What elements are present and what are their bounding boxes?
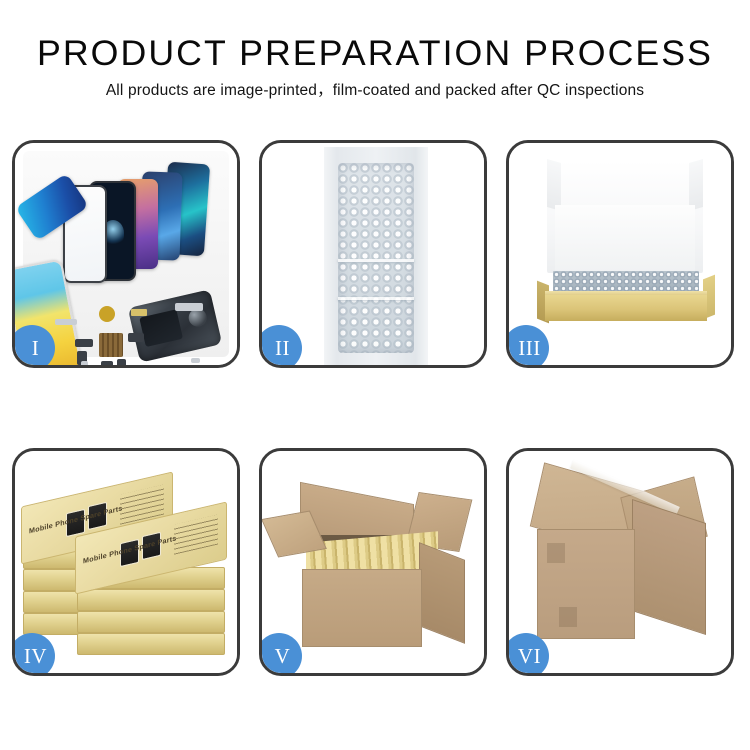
process-step-panel-3: III [506,140,734,368]
kraft-box-layer [77,611,225,633]
process-steps-grid: I II [12,140,738,676]
page-header: PRODUCT PREPARATION PROCESS All products… [0,34,750,101]
spare-part-screw [191,358,200,363]
step-4-illustration: Mobile Phone Spare Parts Mobile Phone Sp… [15,451,237,673]
bubble-wrap-seam-upper [338,259,414,262]
process-step-panel-6: VI [506,448,734,676]
carton-handle-tab-lower [559,607,577,627]
spare-part-camera [101,361,113,365]
process-step-panel-5: V [259,448,487,676]
spare-part-sim-tray [81,361,88,365]
step-badge-2: II [262,325,302,365]
process-step-panel-1: I [12,140,240,368]
step-badge-5: V [262,633,302,673]
inner-box-foam-liner [555,205,695,273]
kraft-box-layer [77,633,225,655]
product-preparation-process-page: PRODUCT PREPARATION PROCESS All products… [0,0,750,750]
process-step-panel-2: II [259,140,487,368]
carton-front [302,569,422,647]
bubble-wrap-sheet [324,147,428,365]
inner-box-front [545,295,707,321]
inner-box-lid-flap-right [689,159,703,211]
kraft-box-layer [77,589,225,611]
step-6-illustration: VI [509,451,731,673]
bubble-wrap-seam-lower [338,297,414,300]
spare-part-speaker [99,306,115,322]
bubble-wrap-bubbles [338,163,414,353]
step-3-illustration: III [509,143,731,365]
carton-side-right [419,542,465,644]
box-art-spec-lines [174,515,218,555]
step-5-illustration: V [262,451,484,673]
spare-part-tool [175,303,203,311]
spare-part-flex-cable [131,309,147,316]
step-1-illustration: I [15,143,237,365]
step-badge-6: VI [509,633,549,673]
step-2-illustration: II [262,143,484,365]
inner-box-lid-flap-left [547,159,561,211]
spare-part-button-flex [128,333,144,342]
step-badge-3: III [509,325,549,365]
spare-part-strip [55,319,77,325]
page-title: PRODUCT PREPARATION PROCESS [0,34,750,74]
spare-part-connector [75,339,93,347]
page-subtitle: All products are image-printed，film-coat… [0,81,750,101]
process-step-panel-4: Mobile Phone Spare Parts Mobile Phone Sp… [12,448,240,676]
spare-part-module [117,359,126,365]
carton-handle-tab-upper [547,543,565,563]
sealed-carton-side-right [632,499,706,635]
spare-part-chip-array [99,333,123,357]
